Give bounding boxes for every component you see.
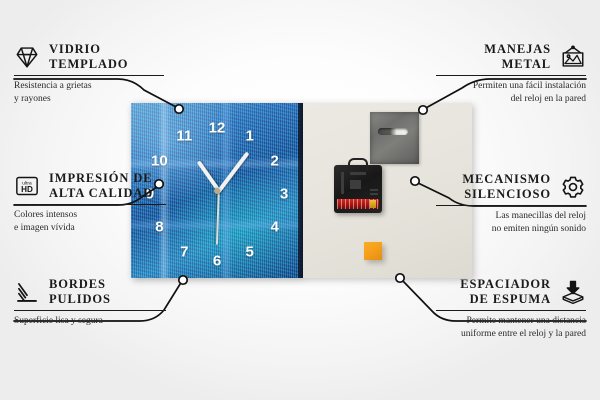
product-image: 12 1 2 3 4 5 6 7 8 9 10 11: [131, 103, 472, 278]
feature-divider: [14, 75, 164, 76]
clock-numeral: 7: [180, 244, 188, 259]
feature-title: VIDRIO TEMPLADO: [49, 42, 128, 72]
feature-description: Colores intensos e imagen vívida: [14, 209, 166, 235]
feature-description: Superficie lisa y segura: [14, 315, 166, 328]
gear-icon: [560, 174, 586, 200]
battery-texture: [337, 199, 379, 209]
clock-numeral: 2: [270, 153, 278, 168]
ultra-hd-icon: ultra HD: [14, 173, 40, 199]
feature-bordes-pulidos: BORDES PULIDOS Superficie lisa y segura: [14, 277, 166, 328]
mechanism-detail: [370, 193, 378, 195]
feature-description: Resistencia a grietas y rayones: [14, 80, 164, 106]
hanger-keyhole-slot: [378, 128, 408, 135]
feature-title: ESPACIADOR DE ESPUMA: [460, 277, 551, 307]
feature-title: BORDES PULIDOS: [49, 277, 111, 307]
clock-numeral: 10: [151, 153, 168, 168]
foam-spacer-icon: [560, 279, 586, 305]
feature-mecanismo-silencioso: MECANISMO SILENCIOSO Las manecillas del …: [436, 172, 586, 236]
feature-heading: BORDES PULIDOS: [14, 277, 166, 307]
feature-divider: [436, 75, 586, 76]
feature-heading: ultra HD IMPRESIÓN DE ALTA CALIDAD: [14, 171, 166, 201]
metal-hanger-plate: [370, 112, 419, 164]
clock-minute-hand: [216, 151, 249, 193]
feature-heading: MECANISMO SILENCIOSO: [436, 172, 586, 202]
feature-heading: ESPACIADOR DE ESPUMA: [436, 277, 586, 307]
feature-title: IMPRESIÓN DE ALTA CALIDAD: [49, 171, 153, 201]
clock-numeral: 1: [246, 129, 254, 144]
clock-numeral: 5: [246, 244, 254, 259]
battery: [337, 199, 379, 209]
clock-center-pivot: [214, 188, 220, 194]
picture-hanger-icon: [560, 44, 586, 70]
clock-numeral: 12: [209, 120, 226, 135]
feature-manejas-metal: MANEJAS METAL Permiten una fácil instala…: [436, 42, 586, 106]
polished-edges-icon: [14, 279, 40, 305]
mechanism-hanging-loop: [348, 158, 368, 170]
feature-description: Permite mantener una distancia uniforme …: [436, 315, 586, 341]
feature-heading: VIDRIO TEMPLADO: [14, 42, 164, 72]
mechanism-detail: [350, 172, 366, 175]
mechanism-detail: [370, 189, 378, 191]
feature-description: Permiten una fácil instalación del reloj…: [436, 80, 586, 106]
clock-numeral: 4: [270, 220, 278, 235]
feature-impresion-alta-calidad: ultra HD IMPRESIÓN DE ALTA CALIDAD Color…: [14, 171, 166, 235]
clock-numeral: 3: [280, 187, 288, 202]
feature-vidrio-templado: VIDRIO TEMPLADO Resistencia a grietas y …: [14, 42, 164, 106]
mechanism-detail: [341, 172, 344, 194]
feature-title: MECANISMO SILENCIOSO: [462, 172, 551, 202]
clock-numeral: 6: [213, 253, 221, 268]
clock-numeral: 11: [176, 129, 192, 144]
feature-divider: [14, 310, 166, 311]
feature-divider: [436, 310, 586, 311]
feature-description: Las manecillas del reloj no emiten ningú…: [436, 210, 586, 236]
feature-title: MANEJAS METAL: [484, 42, 551, 72]
quartz-mechanism: [334, 165, 382, 213]
clock-second-hand: [216, 188, 220, 244]
feature-divider: [14, 204, 166, 205]
feature-divider: [436, 205, 586, 206]
feature-espaciador-espuma: ESPACIADOR DE ESPUMA Permite mantener un…: [436, 277, 586, 341]
svg-text:HD: HD: [21, 185, 33, 194]
feature-heading: MANEJAS METAL: [436, 42, 586, 72]
mechanism-detail: [350, 180, 361, 189]
diamond-icon: [14, 44, 40, 70]
foam-spacer: [364, 242, 382, 260]
infographic-canvas: 12 1 2 3 4 5 6 7 8 9 10 11: [0, 0, 600, 400]
